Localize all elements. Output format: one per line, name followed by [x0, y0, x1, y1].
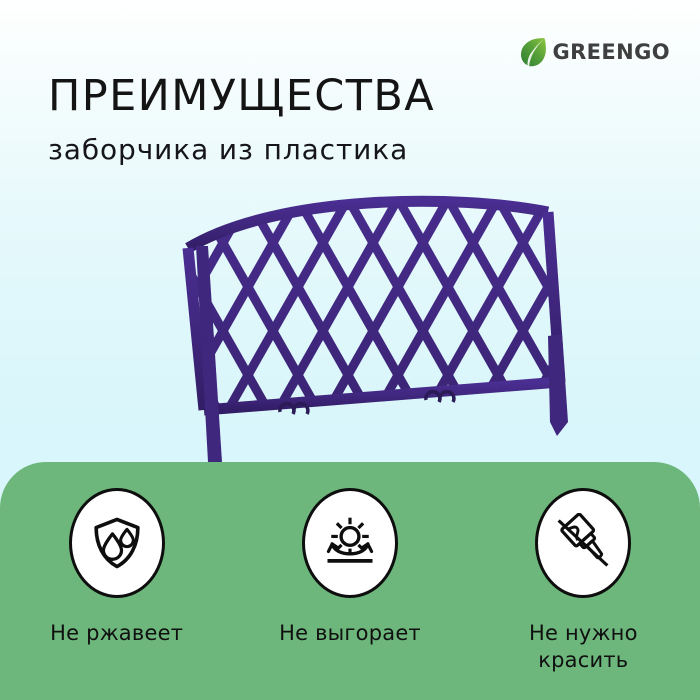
feature-item-no-rust: Не ржавеет — [17, 488, 217, 647]
features-row: Не ржавеет — [0, 462, 700, 700]
brand-wordmark: GREENGO — [552, 42, 670, 63]
fence-illustration — [168, 186, 568, 476]
page-subtitle: заборчика из пластика — [48, 134, 408, 166]
no-paint-brush-icon — [535, 488, 631, 598]
features-panel: Не ржавеет — [0, 462, 700, 700]
shield-water-drop-icon — [69, 488, 165, 598]
feature-label-no-paint: Не нужно красить — [518, 620, 648, 674]
fence-right-stake — [548, 334, 568, 436]
poster-canvas: GREENGO ПРЕИМУЩЕСТВА заборчика из пласти… — [0, 0, 700, 700]
feature-label-no-fade: Не выгорает — [279, 620, 421, 647]
brand-logo: GREENGO — [518, 36, 670, 68]
feature-label-no-rust: Не ржавеет — [50, 620, 183, 647]
sun-fade-resistant-icon — [302, 488, 398, 598]
leaf-icon — [518, 36, 548, 68]
feature-item-no-paint: Не нужно красить — [483, 488, 683, 674]
page-title: ПРЕИМУЩЕСТВА — [48, 74, 435, 119]
feature-item-no-fade: Не выгорает — [250, 488, 450, 647]
